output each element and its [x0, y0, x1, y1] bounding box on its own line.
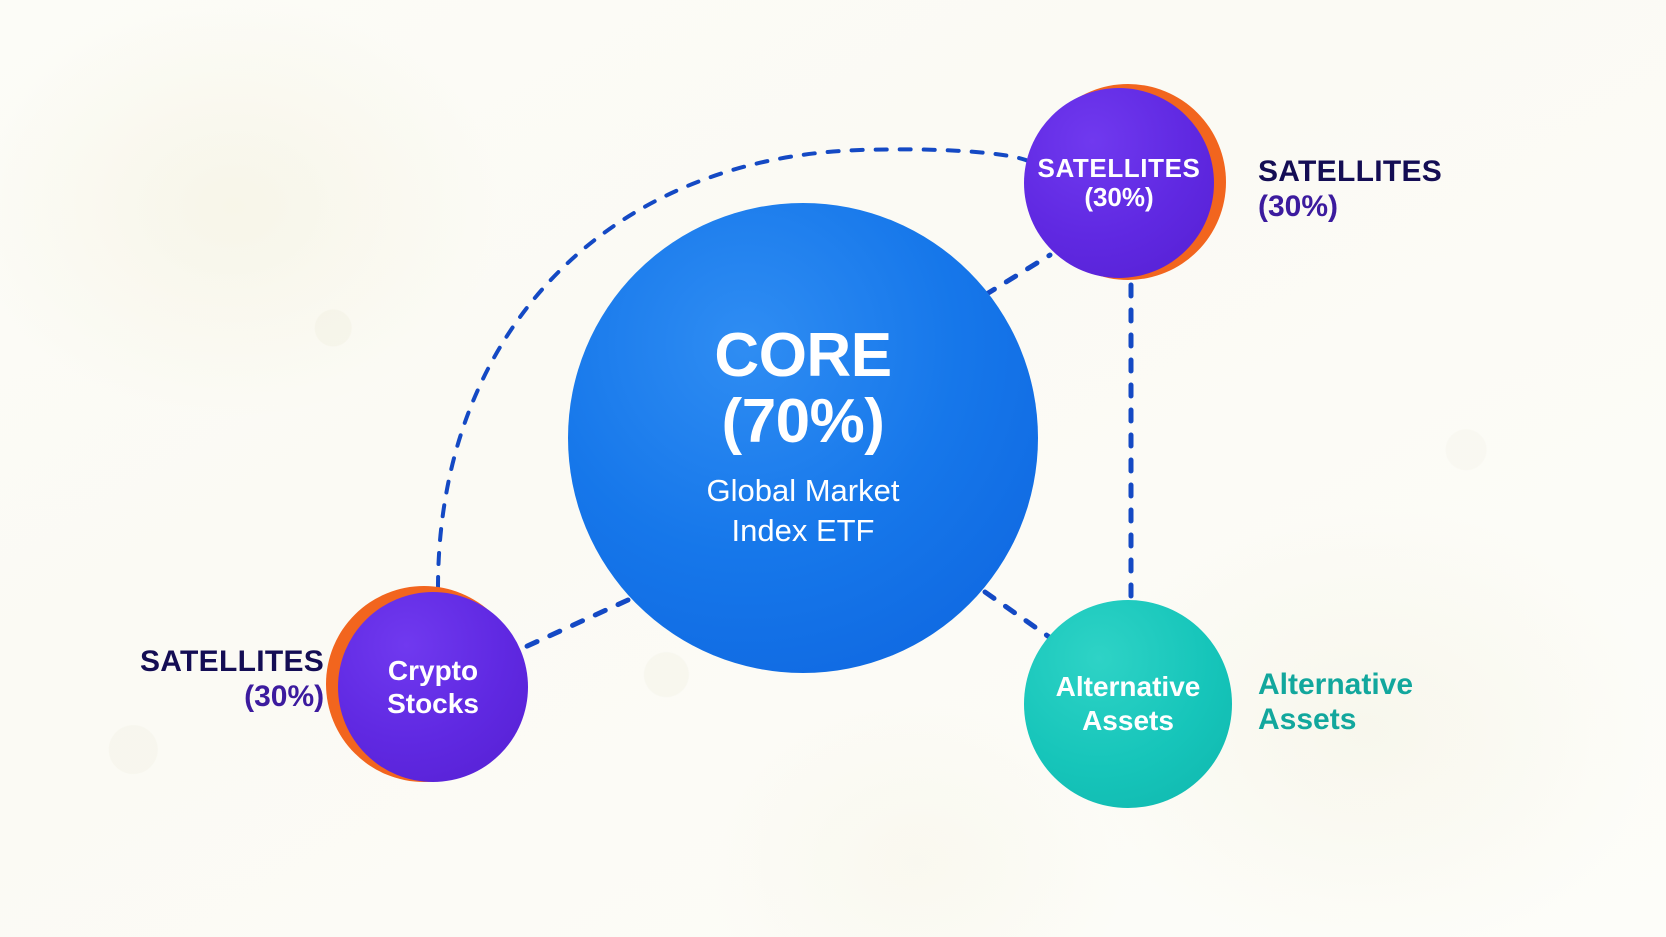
connector-core-to-crypto-stocks: [523, 600, 628, 648]
crypto-stocks-line2: Stocks: [387, 687, 479, 720]
core-subtitle-line2: Index ETF: [732, 513, 875, 548]
crypto-stocks-label: SATELLITES (30%): [140, 645, 324, 715]
crypto-stocks-label-main: SATELLITES: [140, 645, 324, 680]
connector-core-to-satellite-top-right: [985, 255, 1050, 295]
crypto-stocks-label-sub: (30%): [140, 680, 324, 715]
alternative-assets-circle[interactable]: Alternative Assets: [1024, 600, 1232, 808]
core-circle[interactable]: CORE (70%) Global Market Index ETF: [568, 203, 1038, 673]
satellite-top-right-line2: (30%): [1084, 183, 1153, 212]
satellite-top-right-label-sub: (30%): [1258, 190, 1442, 225]
core-subtitle: Global Market Index ETF: [707, 471, 900, 550]
core-title: CORE: [714, 325, 891, 387]
alternative-assets-label-sub: Assets: [1258, 703, 1413, 738]
satellite-top-right-circle[interactable]: SATELLITES (30%): [1024, 88, 1214, 278]
alternative-assets-label-main: Alternative: [1258, 668, 1413, 703]
alternative-assets-line1: Alternative: [1056, 670, 1201, 704]
core-percent: (70%): [722, 389, 885, 455]
satellite-top-right-line1: SATELLITES: [1038, 154, 1201, 183]
satellite-top-right-label: SATELLITES (30%): [1258, 155, 1442, 225]
crypto-stocks-circle[interactable]: Crypto Stocks: [338, 592, 528, 782]
crypto-stocks-line1: Crypto: [388, 654, 478, 687]
satellite-top-right-label-main: SATELLITES: [1258, 155, 1442, 190]
alternative-assets-line2: Assets: [1082, 704, 1174, 738]
diagram-canvas: CORE (70%) Global Market Index ETF SATEL…: [0, 0, 1666, 937]
core-subtitle-line1: Global Market: [707, 473, 900, 508]
alternative-assets-label: Alternative Assets: [1258, 668, 1413, 738]
